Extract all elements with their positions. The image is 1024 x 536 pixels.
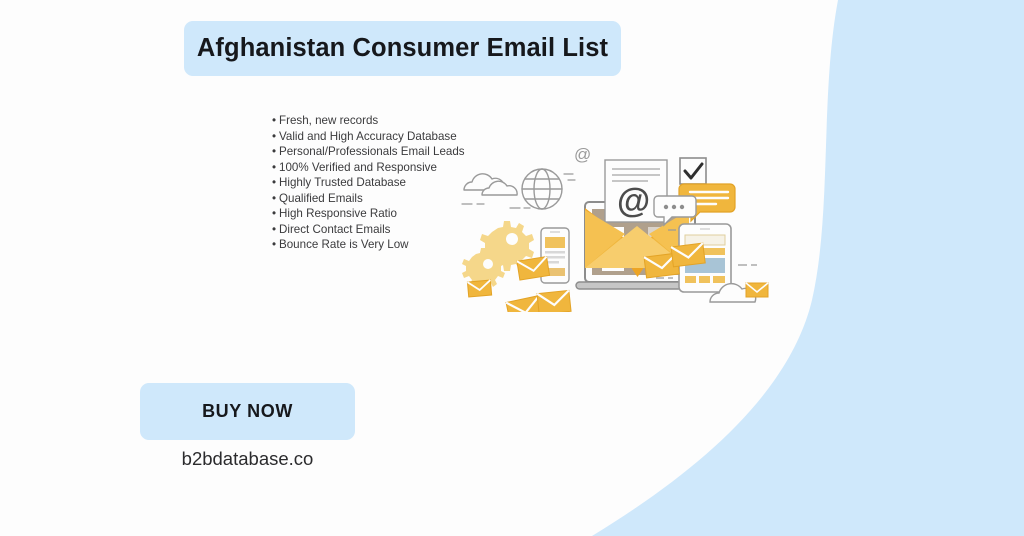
list-item-label: Personal/Professionals Email Leads: [279, 145, 465, 158]
buy-now-button[interactable]: BUY NOW: [140, 383, 355, 440]
bullet-icon: •: [272, 160, 279, 176]
checkbox-checked-icon: [680, 158, 706, 184]
bullet-icon: •: [272, 191, 279, 207]
globe-icon: [522, 169, 562, 209]
bullet-icon: •: [272, 206, 279, 222]
bullet-icon: •: [272, 237, 279, 253]
feature-list: •Fresh, new records •Valid and High Accu…: [272, 113, 465, 253]
bullet-icon: •: [272, 113, 279, 129]
bullet-icon: •: [272, 222, 279, 238]
list-item: •Bounce Rate is Very Low: [272, 237, 465, 253]
at-symbol-icon: @: [574, 145, 591, 164]
list-item: •High Responsive Ratio: [272, 206, 465, 222]
envelope-icon: [746, 283, 768, 297]
list-item-label: High Responsive Ratio: [279, 207, 397, 220]
cloud-icon: [464, 174, 517, 195]
site-url: b2bdatabase.co: [140, 448, 355, 470]
list-item: •Qualified Emails: [272, 191, 465, 207]
list-item-label: 100% Verified and Responsive: [279, 161, 437, 174]
list-item: •Valid and High Accuracy Database: [272, 129, 465, 145]
list-item-label: Valid and High Accuracy Database: [279, 130, 457, 143]
list-item: •100% Verified and Responsive: [272, 160, 465, 176]
page-title: Afghanistan Consumer Email List: [197, 34, 608, 63]
list-item: •Highly Trusted Database: [272, 175, 465, 191]
list-item-label: Bounce Rate is Very Low: [279, 238, 409, 251]
buy-now-label: BUY NOW: [202, 401, 293, 422]
bullet-icon: •: [272, 175, 279, 191]
list-item-label: Qualified Emails: [279, 192, 363, 205]
list-item: •Direct Contact Emails: [272, 222, 465, 238]
list-item-label: Direct Contact Emails: [279, 223, 390, 236]
promo-banner: Afghanistan Consumer Email List •Fresh, …: [0, 0, 1024, 536]
email-marketing-illustration: @: [452, 142, 772, 312]
svg-text:@: @: [617, 182, 650, 220]
list-item: •Fresh, new records: [272, 113, 465, 129]
list-item-label: Highly Trusted Database: [279, 176, 406, 189]
list-item-label: Fresh, new records: [279, 114, 378, 127]
bullet-icon: •: [272, 129, 279, 145]
list-item: •Personal/Professionals Email Leads: [272, 144, 465, 160]
bullet-icon: •: [272, 144, 279, 160]
page-title-badge: Afghanistan Consumer Email List: [184, 21, 621, 76]
